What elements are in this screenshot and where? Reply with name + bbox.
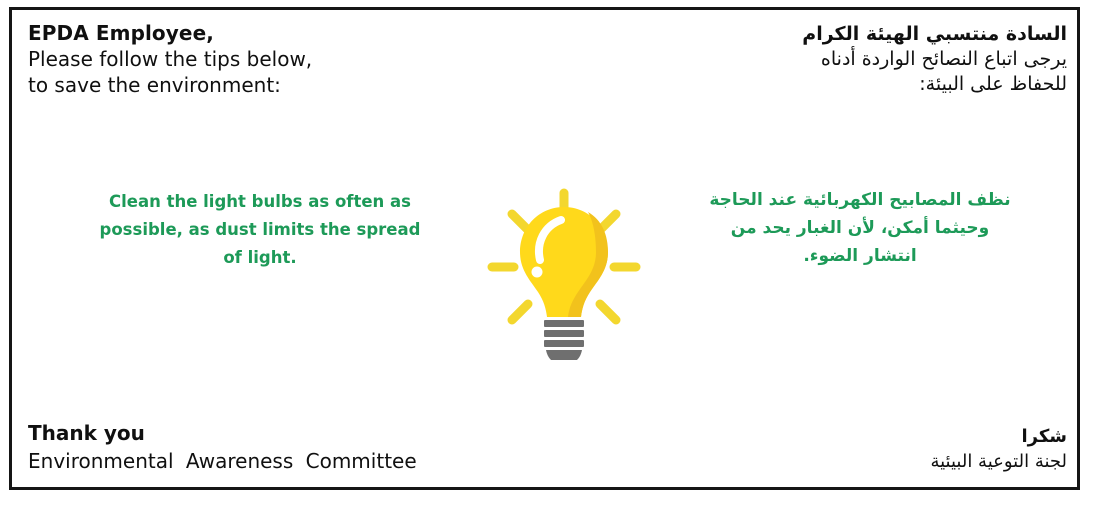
footer-english: Thank you Environmental Awareness Commit… xyxy=(28,420,588,475)
footer-arabic-thanks: شكرا xyxy=(647,424,1067,449)
header-arabic-line3: للحفاظ على البيئة: xyxy=(547,72,1067,97)
header-arabic: السادة منتسبي الهيئة الكرام يرجى اتباع ا… xyxy=(547,22,1067,97)
light-bulb-icon xyxy=(476,175,656,360)
header-english: EPDA Employee, Please follow the tips be… xyxy=(28,20,498,98)
header-english-line1: EPDA Employee, xyxy=(28,20,498,46)
footer-arabic: شكرا لجنة التوعية البيئية xyxy=(647,424,1067,475)
tip-text-english: Clean the light bulbs as often as possib… xyxy=(90,188,430,272)
header-arabic-line1: السادة منتسبي الهيئة الكرام xyxy=(547,22,1067,47)
header-english-line3: to save the environment: xyxy=(28,72,498,98)
header-arabic-line2: يرجى اتباع النصائح الواردة أدناه xyxy=(547,47,1067,72)
bulb-base xyxy=(544,320,584,360)
header-english-line2: Please follow the tips below, xyxy=(28,46,498,72)
bulb-glass xyxy=(520,207,608,317)
footer-english-thanks: Thank you xyxy=(28,420,588,447)
tip-text-arabic: نظف المصابيح الكهربائية عند الحاجة وحيثم… xyxy=(705,186,1015,270)
footer-english-committee: Environmental Awareness Committee xyxy=(28,447,588,475)
poster-content: EPDA Employee, Please follow the tips be… xyxy=(12,10,1077,487)
footer-arabic-committee: لجنة التوعية البيئية xyxy=(647,449,1067,475)
poster-frame: EPDA Employee, Please follow the tips be… xyxy=(9,7,1080,490)
